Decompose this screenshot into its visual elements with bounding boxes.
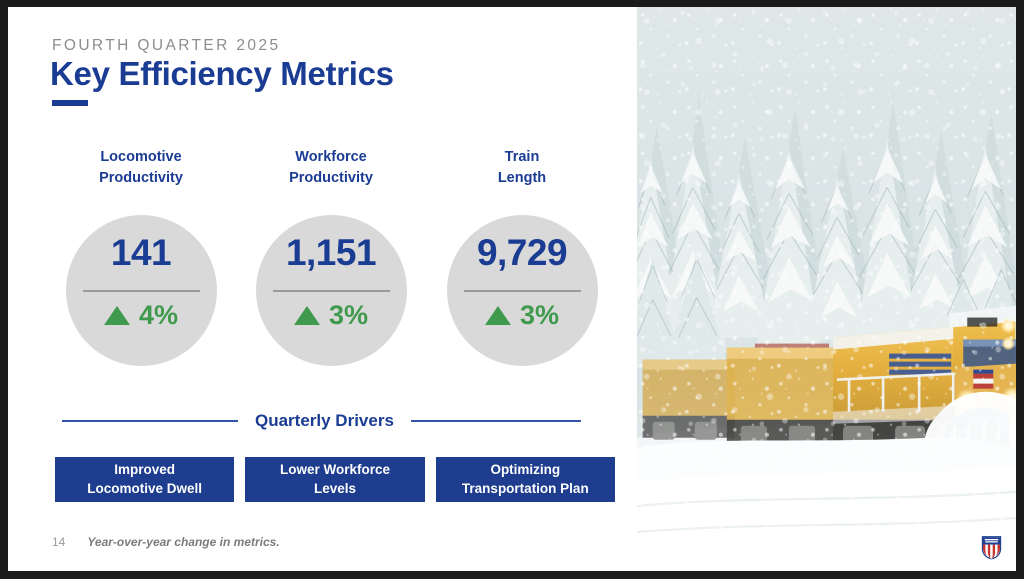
metric-label: Train Length <box>424 147 620 188</box>
content-pane: FOURTH QUARTER 2025 Key Efficiency Metri… <box>8 7 637 571</box>
metric-circle: 141 4% <box>66 215 217 366</box>
driver-box-optimizing-transportation-plan: Optimizing Transportation Plan <box>436 457 615 502</box>
metric-card-locomotive-productivity: Locomotive Productivity 141 4% <box>43 147 239 366</box>
metric-card-train-length: Train Length 9,729 3% <box>424 147 620 366</box>
metric-circle: 1,151 3% <box>256 215 407 366</box>
metric-circle: 9,729 3% <box>447 215 598 366</box>
snowy-forest-locomotive-photo <box>637 7 1016 571</box>
title-accent-bar <box>52 100 88 106</box>
metric-card-workforce-productivity: Workforce Productivity 1,151 3% <box>233 147 429 366</box>
triangle-up-icon <box>104 306 130 325</box>
metric-divider <box>464 290 581 292</box>
slide-frame: FOURTH QUARTER 2025 Key Efficiency Metri… <box>0 0 1024 579</box>
metric-value: 1,151 <box>256 234 407 271</box>
driver-boxes-group: Improved Locomotive Dwell Lower Workforc… <box>55 457 615 502</box>
metric-delta-value: 4% <box>139 302 178 329</box>
page-number: 14 <box>52 535 65 549</box>
driver-box-improved-locomotive-dwell: Improved Locomotive Dwell <box>55 457 234 502</box>
heading-rule-left <box>62 420 238 423</box>
metric-delta: 3% <box>447 302 598 329</box>
metric-value: 9,729 <box>447 234 598 271</box>
page-title: Key Efficiency Metrics <box>50 55 394 93</box>
metric-label: Locomotive Productivity <box>43 147 239 188</box>
metric-delta-value: 3% <box>520 302 559 329</box>
driver-box-lower-workforce-levels: Lower Workforce Levels <box>245 457 424 502</box>
metric-delta: 4% <box>66 302 217 329</box>
footer: 14 Year-over-year change in metrics. <box>52 535 280 549</box>
metric-divider <box>273 290 390 292</box>
quarterly-drivers-label: Quarterly Drivers <box>238 411 411 431</box>
quarterly-drivers-heading: Quarterly Drivers <box>8 410 637 432</box>
footnote-text: Year-over-year change in metrics. <box>87 535 279 549</box>
metric-value: 141 <box>66 234 217 271</box>
union-pacific-shield-logo <box>980 535 1003 560</box>
heading-rule-right <box>411 420 581 423</box>
photo-illustration <box>637 7 1016 571</box>
slide: FOURTH QUARTER 2025 Key Efficiency Metri… <box>8 7 1016 571</box>
eyebrow-text: FOURTH QUARTER 2025 <box>52 37 281 55</box>
metric-delta-value: 3% <box>329 302 368 329</box>
metric-delta: 3% <box>256 302 407 329</box>
metric-divider <box>83 290 200 292</box>
triangle-up-icon <box>294 306 320 325</box>
metrics-group: Locomotive Productivity 141 4% Workforce… <box>8 147 637 382</box>
metric-label: Workforce Productivity <box>233 147 429 188</box>
triangle-up-icon <box>485 306 511 325</box>
